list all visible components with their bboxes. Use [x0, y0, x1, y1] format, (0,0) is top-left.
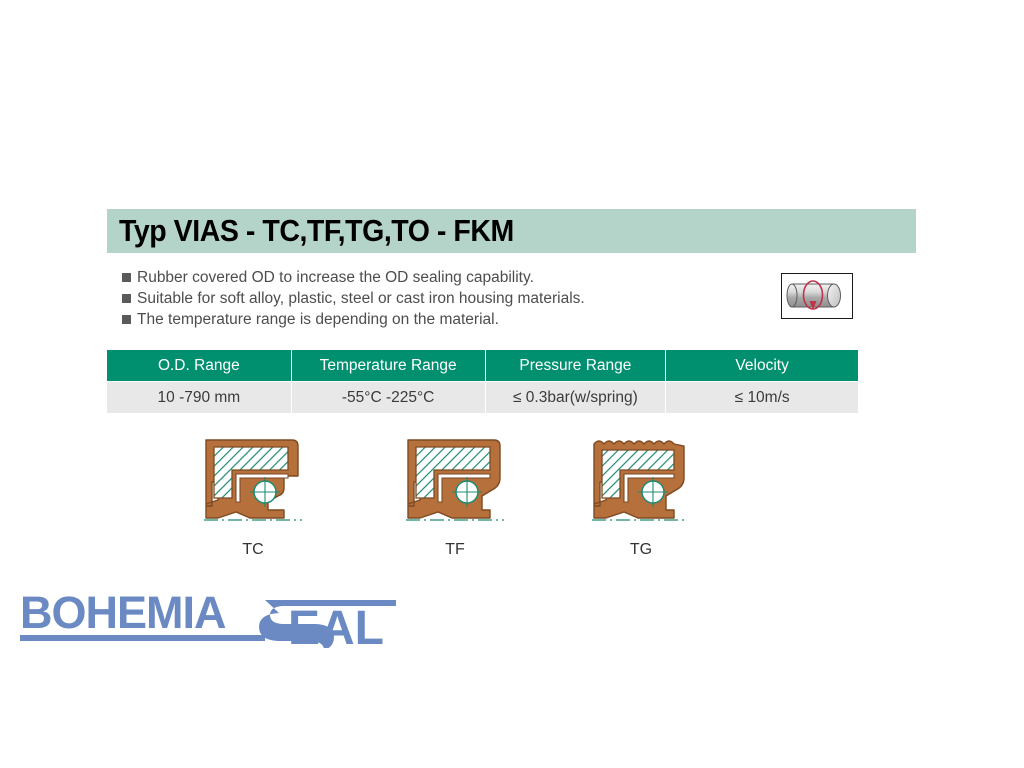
cell-od-range: 10 -790 mm — [107, 382, 291, 413]
logo-text-bohemia: BOHEMIA — [20, 587, 226, 638]
table-header-row: O.D. Range Temperature Range Pressure Ra… — [107, 350, 858, 381]
seal-label-tc: TC — [188, 541, 318, 559]
cell-velocity: ≤ 10m/s — [666, 382, 858, 413]
seal-label-tg: TG — [576, 541, 706, 559]
square-bullet-icon — [122, 294, 131, 303]
column-header-temperature: Temperature Range — [292, 350, 485, 381]
cell-pressure: ≤ 0.3bar(w/spring) — [486, 382, 666, 413]
logo-text-eal: EAL — [288, 602, 384, 648]
list-item: Rubber covered OD to increase the OD sea… — [122, 268, 762, 289]
page-title: Typ VIAS - TC,TF,TG,TO - FKM — [119, 213, 514, 249]
table-row: 10 -790 mm -55°C -225°C ≤ 0.3bar(w/sprin… — [107, 382, 858, 413]
seal-tf-svg — [390, 432, 520, 532]
column-header-pressure: Pressure Range — [486, 350, 666, 381]
seal-diagram-tf: TF — [390, 432, 520, 559]
title-banner: Typ VIAS - TC,TF,TG,TO - FKM — [107, 209, 916, 253]
seal-diagram-tg: TG — [576, 432, 706, 559]
feature-text: Rubber covered OD to increase the OD sea… — [137, 268, 534, 288]
seal-tc-svg — [188, 432, 318, 532]
logo-svg: BOHEMIA EAL — [18, 586, 418, 648]
column-header-od-range: O.D. Range — [107, 350, 291, 381]
square-bullet-icon — [122, 273, 131, 282]
seal-label-tf: TF — [390, 541, 520, 559]
feature-text: The temperature range is depending on th… — [137, 310, 499, 330]
cell-temperature: -55°C -225°C — [292, 382, 485, 413]
square-bullet-icon — [122, 315, 131, 324]
logo-underline — [20, 635, 265, 641]
datasheet-page: Typ VIAS - TC,TF,TG,TO - FKM Rubber cove… — [0, 0, 1024, 768]
company-logo: BOHEMIA EAL — [18, 586, 418, 648]
seal-diagram-group: TC TF — [0, 432, 1024, 562]
list-item: Suitable for soft alloy, plastic, steel … — [122, 289, 762, 310]
feature-list: Rubber covered OD to increase the OD sea… — [122, 268, 762, 331]
column-header-velocity: Velocity — [666, 350, 858, 381]
seal-diagram-tc: TC — [188, 432, 318, 559]
feature-text: Suitable for soft alloy, plastic, steel … — [137, 289, 585, 309]
seal-tg-svg — [576, 432, 706, 532]
specification-table: O.D. Range Temperature Range Pressure Ra… — [107, 350, 858, 413]
rotation-svg — [782, 274, 851, 317]
list-item: The temperature range is depending on th… — [122, 310, 762, 331]
shaft-rotation-icon — [781, 273, 853, 319]
